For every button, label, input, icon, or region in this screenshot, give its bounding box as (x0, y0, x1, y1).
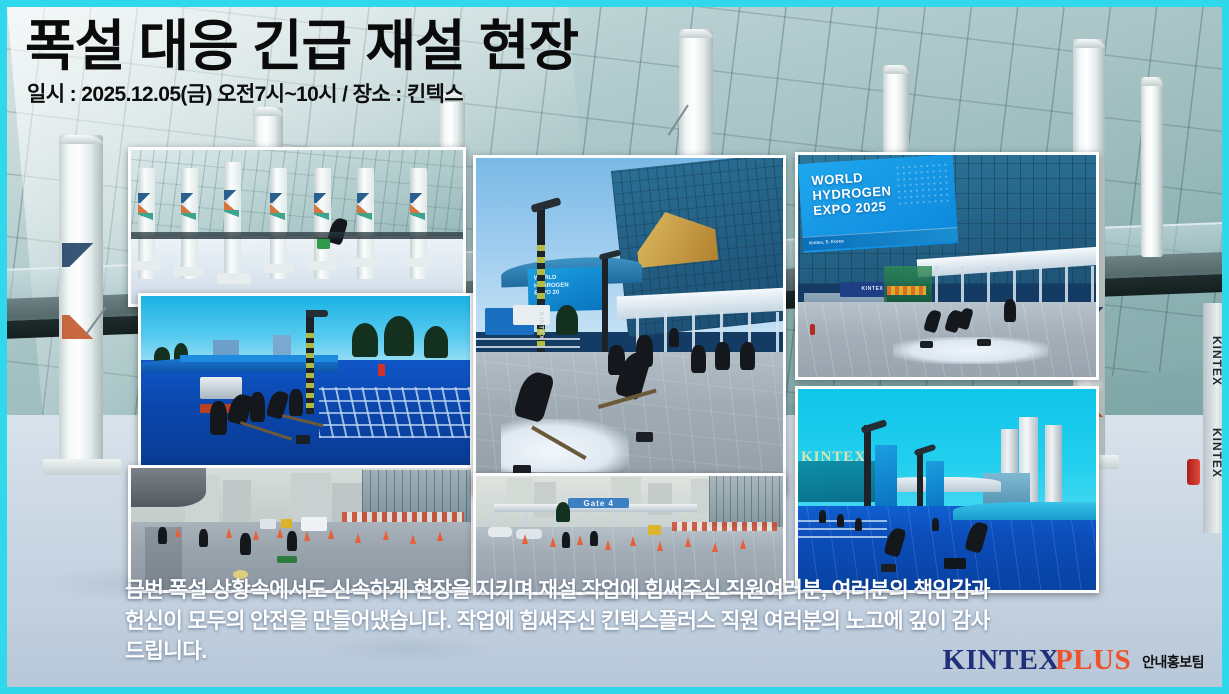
event-subtitle: 일시 : 2025.12.05(금) 오전7시~10시 / 장소 : 킨텍스 (27, 78, 578, 108)
led-subtitle: Kintex, S. Korea (809, 238, 844, 245)
photo-hydrogen-expo-banner[interactable]: WORLD HYDROGEN EXPO 2025 Kintex, S. Kore… (795, 152, 1099, 380)
page-title: 폭설 대응 긴급 재설 현장 (25, 17, 578, 75)
led-banner: WORLD HYDROGEN EXPO 2025 Kintex, S. Kore… (798, 154, 958, 252)
caption-line-1: 금번 폭설 상황속에서도 신속하게 현장을 지키며 재설 작업에 힘써주신 직원… (125, 575, 1125, 606)
kintex-plus-logo: KINTEX PLUS 안내홍보팀 (943, 646, 1204, 675)
gate-sign: Gate 4 (568, 498, 629, 508)
logo-kintex-word: KINTEX (943, 646, 1060, 675)
photo-avenue-shoveling[interactable]: WORLDHYDROGENEXPO 20 (473, 155, 786, 495)
photo-crew-shoveling-blue[interactable] (138, 293, 473, 468)
logo-plus-word: PLUS (1055, 646, 1131, 675)
photo-wide-plaza-cones[interactable] (128, 465, 474, 593)
caption-line-2: 헌신이 모두의 안전을 만들어냈습니다. 작업에 힘써주신 킨텍스플러스 직원 … (125, 606, 1125, 637)
photo-cyan-plaza-towers[interactable]: KINTEX (795, 386, 1099, 593)
poster-root: KINTEX KINTEX 폭설 대응 긴급 재설 현장 일시 : 2025.1… (0, 0, 1229, 694)
logo-team-label: 안내홍보팀 (1142, 652, 1204, 675)
kintex-building-sign: KINTEX (801, 449, 866, 466)
photo-columns-decal[interactable] (128, 147, 466, 307)
kintex-pillar-sign: KINTEX KINTEX (1203, 303, 1222, 533)
title-block: 폭설 대응 긴급 재설 현장 일시 : 2025.12.05(금) 오전7시~1… (25, 17, 578, 108)
